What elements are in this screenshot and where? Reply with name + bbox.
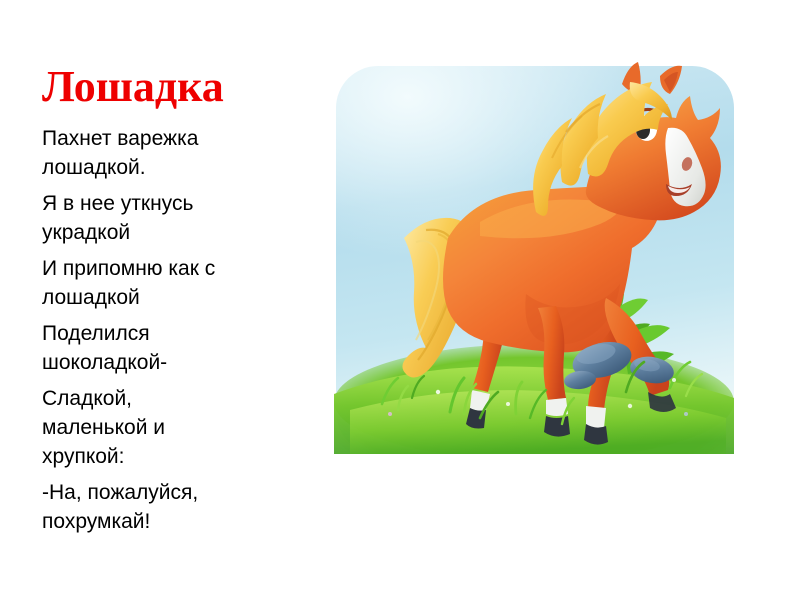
horse-illustration — [330, 62, 738, 454]
poem-line: И припомню как с — [42, 254, 310, 283]
poem-stanza: -На, пожалуйся, похрумкай! — [42, 478, 310, 536]
poem-text-column: Лошадка Пахнет варежка лошадкой. Я в нее… — [42, 62, 310, 543]
poem-line: лошадкой. — [42, 153, 310, 182]
illustration-fade-mask — [330, 62, 738, 454]
poem-line: хрупкой: — [42, 442, 310, 471]
poem-line: -На, пожалуйся, — [42, 478, 310, 507]
poem-line: маленькой и — [42, 413, 310, 442]
poem-stanza: Поделился шоколадкой- — [42, 319, 310, 377]
slide-canvas: Лошадка Пахнет варежка лошадкой. Я в нее… — [0, 0, 800, 600]
poem-stanza: Пахнет варежка лошадкой. — [42, 124, 310, 182]
page-title: Лошадка — [42, 62, 310, 112]
poem-line: Пахнет варежка — [42, 124, 310, 153]
poem-stanza: Я в нее уткнусь украдкой — [42, 189, 310, 247]
poem-stanza: И припомню как с лошадкой — [42, 254, 310, 312]
poem-line: украдкой — [42, 218, 310, 247]
ground-group — [334, 344, 734, 454]
poem-line: лошадкой — [42, 283, 310, 312]
horse-scene-svg — [330, 62, 738, 454]
poem-body: Пахнет варежка лошадкой. Я в нее уткнусь… — [42, 124, 310, 536]
poem-line: шоколадкой- — [42, 348, 310, 377]
poem-stanza: Сладкой, маленькой и хрупкой: — [42, 384, 310, 471]
poem-line: Я в нее уткнусь — [42, 189, 310, 218]
illustration-frame — [330, 62, 738, 454]
poem-line: похрумкай! — [42, 507, 310, 536]
poem-line: Поделился — [42, 319, 310, 348]
poem-line: Сладкой, — [42, 384, 310, 413]
